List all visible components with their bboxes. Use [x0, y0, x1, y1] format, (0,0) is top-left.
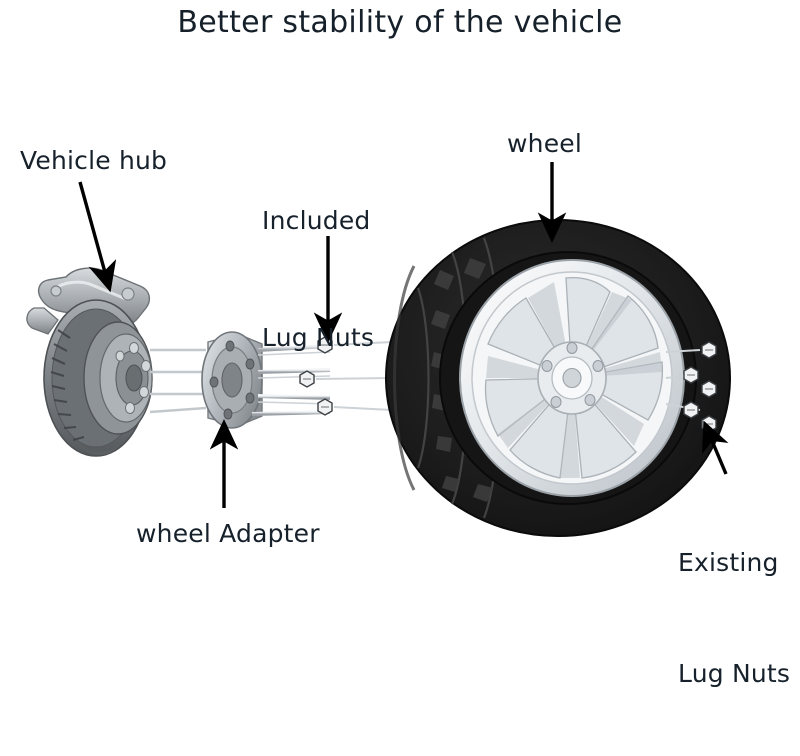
arrow-existing-lug-nuts	[710, 436, 726, 474]
label-vehicle-hub: Vehicle hub	[20, 144, 167, 177]
diagram-canvas: Better stability of the vehicle	[0, 0, 800, 567]
label-wheel: wheel	[507, 127, 582, 160]
label-wheel-adapter: wheel Adapter	[136, 517, 320, 550]
vehicle-hub-assembly	[27, 268, 152, 456]
label-included-lug-nuts-line1: Included	[262, 204, 374, 237]
arrow-vehicle-hub	[80, 182, 106, 276]
label-existing-lug-nuts-line2: Lug Nuts	[678, 657, 790, 690]
stud-guide-lines-left	[150, 350, 206, 412]
label-included-lug-nuts-line2: Lug Nuts	[262, 321, 374, 354]
label-included-lug-nuts: Included Lug Nuts	[262, 138, 374, 420]
label-existing-lug-nuts-line1: Existing	[678, 546, 790, 579]
label-existing-lug-nuts: Existing Lug Nuts	[678, 480, 790, 756]
